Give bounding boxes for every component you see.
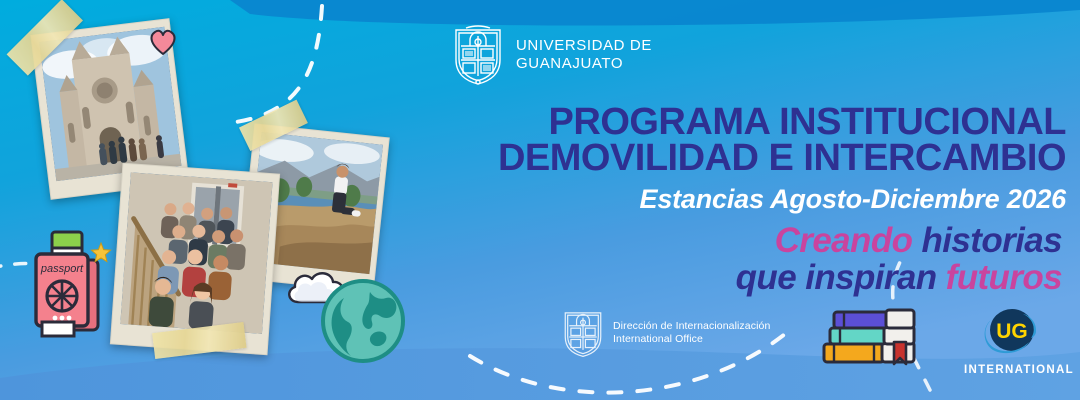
office-line1: Dirección de Internacionalización bbox=[613, 320, 770, 333]
university-name-line1: UNIVERSIDAD DE bbox=[516, 37, 652, 55]
tagline-line2: que inspiran futuros bbox=[0, 259, 1062, 296]
university-name-line2: GUANAJUATO bbox=[516, 55, 652, 73]
ug-coat-of-arms-icon-small bbox=[562, 308, 604, 358]
office-text: Dirección de Internacionalización Intern… bbox=[613, 320, 770, 347]
ug-header: UNIVERSIDAD DE GUANAJUATO bbox=[452, 24, 652, 86]
tagline-word-que-inspiran: que inspiran bbox=[736, 258, 937, 297]
tagline-word-historias: historias bbox=[922, 221, 1062, 260]
page-title-line1: PROGRAMA INSTITUCIONAL bbox=[0, 104, 1066, 140]
office-line2: International Office bbox=[613, 333, 770, 346]
ug-international-mark-icon: UG bbox=[979, 306, 1041, 358]
ug-international-label: INTERNATIONAL bbox=[964, 364, 1056, 376]
books-sticker bbox=[818, 300, 922, 375]
promotional-banner: passport bbox=[0, 0, 1080, 400]
page-title-line2: DEMOVILIDAD E INTERCAMBIO bbox=[0, 140, 1066, 176]
international-office-block: Dirección de Internacionalización Intern… bbox=[562, 308, 770, 358]
heart-sticker bbox=[148, 28, 178, 61]
tagline-block: Creando historias que inspiran futuros bbox=[0, 222, 1062, 296]
ug-mark-text: UG bbox=[996, 320, 1028, 343]
ug-coat-of-arms-icon bbox=[452, 24, 504, 86]
ug-international-logo: UG INTERNATIONAL bbox=[964, 306, 1056, 376]
tagline-word-futuros: futuros bbox=[946, 258, 1062, 297]
tagline-line1: Creando historias bbox=[0, 222, 1062, 259]
page-subtitle: Estancias Agosto-Diciembre 2026 bbox=[0, 184, 1066, 215]
university-name: UNIVERSIDAD DE GUANAJUATO bbox=[516, 37, 652, 72]
title-block: PROGRAMA INSTITUCIONAL DEMOVILIDAD E INT… bbox=[0, 104, 1066, 215]
tagline-word-creando: Creando bbox=[775, 221, 913, 260]
